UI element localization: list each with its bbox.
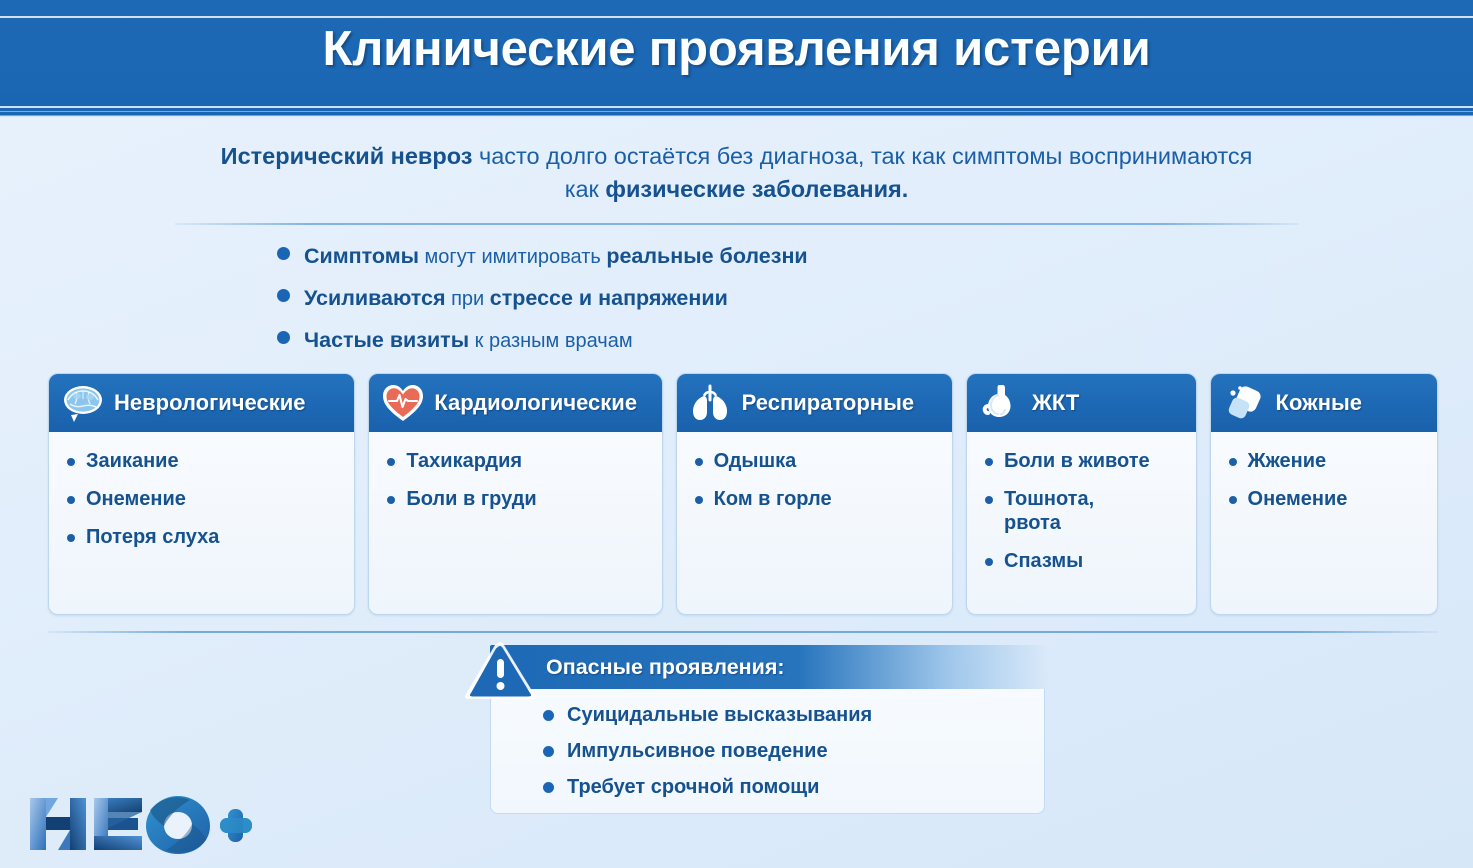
bullet-dot-icon bbox=[67, 534, 75, 542]
danger-item-label: Требует срочной помощи bbox=[567, 776, 819, 799]
bullet-dot-icon bbox=[543, 746, 554, 757]
symptom-label: Боли в животе bbox=[1004, 449, 1150, 473]
keypoint-light: могут имитировать bbox=[419, 246, 606, 268]
intro-bold-term-2: физические заболевания. bbox=[605, 176, 908, 202]
card-header: ЖКТ bbox=[967, 374, 1195, 432]
card-header: Респираторные bbox=[677, 374, 952, 432]
card-header: Кожные bbox=[1211, 374, 1437, 432]
skin-patch-icon bbox=[1223, 382, 1267, 424]
list-item: Заикание bbox=[67, 449, 354, 473]
bullet-dot-icon bbox=[1229, 458, 1237, 466]
symptom-label: Ком в горле bbox=[714, 487, 832, 511]
card-title: Кожные bbox=[1276, 390, 1363, 416]
bullet-dot-icon bbox=[985, 458, 993, 466]
bullet-dot-icon bbox=[277, 289, 290, 302]
card-title: Кардиологические bbox=[434, 390, 637, 416]
page-title: Клинические проявления истерии bbox=[0, 21, 1473, 77]
list-item: Тошнота, рвота bbox=[985, 487, 1195, 535]
symptom-label: Потеря слуха bbox=[86, 525, 219, 549]
symptom-label: Онемение bbox=[1248, 487, 1348, 511]
bullet-dot-icon bbox=[277, 247, 290, 260]
intro-bold-term: Истерический невроз bbox=[221, 143, 473, 169]
symptom-label: Одышка bbox=[714, 449, 797, 473]
keypoint-text: Частые визиты к разным врачам bbox=[304, 327, 633, 354]
card-gastrointestinal: ЖКТ Боли в животе Тошнота, рвота Спазмы bbox=[966, 373, 1196, 615]
list-item: Боли в груди bbox=[387, 487, 661, 511]
keypoint-bold-lead: Частые визиты bbox=[304, 328, 469, 352]
bullet-dot-icon bbox=[67, 496, 75, 504]
card-title: ЖКТ bbox=[1032, 390, 1079, 416]
danger-callout-header: Опасные проявления: bbox=[490, 645, 1050, 689]
keypoint-light: при bbox=[446, 288, 490, 310]
bullet-dot-icon bbox=[67, 458, 75, 466]
symptom-label: Заикание bbox=[86, 449, 179, 473]
card-body: Тахикардия Боли в груди bbox=[369, 432, 661, 614]
list-item: Боли в животе bbox=[985, 449, 1195, 473]
list-item: Суицидальные высказывания bbox=[543, 704, 1044, 727]
keypoint-light: к разным врачам bbox=[469, 330, 633, 352]
card-cardiological: Кардиологические Тахикардия Боли в груди bbox=[368, 373, 662, 615]
keypoint-bold-lead: Усиливаются bbox=[304, 286, 446, 310]
list-item: Импульсивное поведение bbox=[543, 740, 1044, 763]
intro-line-1: Истерический невроз часто долго остаётся… bbox=[221, 143, 1253, 169]
list-item: Онемение bbox=[1229, 487, 1437, 511]
header-bottom-rule bbox=[0, 106, 1473, 108]
lungs-icon bbox=[689, 382, 733, 424]
keypoint-bold-tail: реальные болезни bbox=[606, 244, 807, 268]
bullet-dot-icon bbox=[543, 782, 554, 793]
keypoint-bold-lead: Симптомы bbox=[304, 244, 419, 268]
intro-line-2: как физические заболевания. bbox=[565, 176, 909, 202]
symptom-label: Тахикардия bbox=[406, 449, 522, 473]
danger-callout: Опасные проявления: Суицидальные высказы… bbox=[462, 645, 1062, 814]
keypoints-list: Симптомы могут имитировать реальные боле… bbox=[277, 243, 1177, 354]
header-edge-strip bbox=[0, 112, 1473, 118]
card-body: Жжение Онемение bbox=[1211, 432, 1437, 614]
list-item: Онемение bbox=[67, 487, 354, 511]
list-item: Тахикардия bbox=[387, 449, 661, 473]
symptom-label: Онемение bbox=[86, 487, 186, 511]
card-header: Кардиологические bbox=[369, 374, 661, 432]
bullet-dot-icon bbox=[277, 331, 290, 344]
keypoint-text: Симптомы могут имитировать реальные боле… bbox=[304, 243, 808, 270]
card-neurological: Неврологические Заикание Онемение Потеря… bbox=[48, 373, 355, 615]
list-item: Потеря слуха bbox=[67, 525, 354, 549]
intro-divider bbox=[175, 223, 1299, 225]
card-dermatological: Кожные Жжение Онемение bbox=[1210, 373, 1438, 615]
header-bottom-rule-2 bbox=[0, 111, 1473, 112]
list-item: Спазмы bbox=[985, 549, 1195, 573]
symptom-label: Спазмы bbox=[1004, 549, 1083, 573]
symptom-label: Жжение bbox=[1248, 449, 1327, 473]
list-item: Жжение bbox=[1229, 449, 1437, 473]
symptom-label: Боли в груди bbox=[406, 487, 536, 511]
bullet-dot-icon bbox=[543, 710, 554, 721]
bullet-dot-icon bbox=[387, 458, 395, 466]
card-respiratory: Респираторные Одышка Ком в горле bbox=[676, 373, 953, 615]
bullet-dot-icon bbox=[1229, 496, 1237, 504]
keypoint-text: Усиливаются при стрессе и напряжении bbox=[304, 285, 728, 312]
list-item: Усиливаются при стрессе и напряжении bbox=[277, 285, 1177, 312]
bullet-dot-icon bbox=[387, 496, 395, 504]
stomach-icon bbox=[979, 382, 1023, 424]
keypoint-bold-tail: стрессе и напряжении bbox=[490, 286, 728, 310]
list-item: Ком в горле bbox=[695, 487, 952, 511]
card-title: Неврологические bbox=[114, 390, 306, 416]
card-body: Заикание Онемение Потеря слуха bbox=[49, 432, 354, 614]
intro-paragraph: Истерический невроз часто долго остаётся… bbox=[137, 140, 1337, 206]
bullet-dot-icon bbox=[985, 558, 993, 566]
card-header: Неврологические bbox=[49, 374, 354, 432]
warning-triangle-icon bbox=[462, 639, 540, 701]
brand-logo-neo-plus bbox=[24, 788, 254, 860]
intro-line-2-pre: как bbox=[565, 176, 606, 202]
danger-callout-body: Суицидальные высказывания Импульсивное п… bbox=[490, 689, 1045, 814]
bullet-dot-icon bbox=[695, 496, 703, 504]
heart-ecg-icon bbox=[381, 382, 425, 424]
list-item: Требует срочной помощи bbox=[543, 776, 1044, 799]
danger-callout-title: Опасные проявления: bbox=[546, 655, 785, 680]
list-item: Частые визиты к разным врачам bbox=[277, 327, 1177, 354]
symptom-label: Тошнота, рвота bbox=[1004, 487, 1094, 535]
bullet-dot-icon bbox=[985, 496, 993, 504]
bullet-dot-icon bbox=[695, 458, 703, 466]
brain-icon bbox=[61, 382, 105, 424]
card-body: Одышка Ком в горле bbox=[677, 432, 952, 614]
danger-item-label: Суицидальные высказывания bbox=[567, 704, 872, 727]
list-item: Симптомы могут имитировать реальные боле… bbox=[277, 243, 1177, 270]
list-item: Одышка bbox=[695, 449, 952, 473]
symptom-cards-row: Неврологические Заикание Онемение Потеря… bbox=[48, 373, 1438, 615]
cards-divider bbox=[48, 631, 1438, 633]
page-header: Клинические проявления истерии bbox=[0, 0, 1473, 112]
header-top-rule bbox=[0, 16, 1473, 18]
danger-item-label: Импульсивное поведение bbox=[567, 740, 828, 763]
intro-line-1-rest: часто долго остаётся без диагноза, так к… bbox=[472, 143, 1252, 169]
card-body: Боли в животе Тошнота, рвота Спазмы bbox=[967, 432, 1195, 614]
card-title: Респираторные bbox=[742, 390, 914, 416]
